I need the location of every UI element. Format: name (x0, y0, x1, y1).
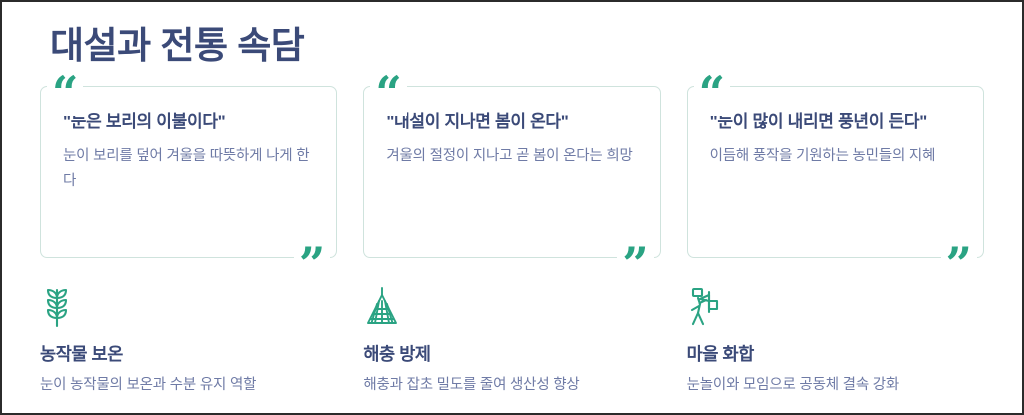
proverb-quote: "눈이 많이 내리면 풍년이 든다" (710, 109, 963, 134)
benefit-title: 마을 화합 (687, 342, 984, 366)
benefit-item: 해충 방제 해충과 잡초 밀도를 줄여 생산성 향상 (363, 286, 660, 396)
pest-net-icon (363, 286, 660, 330)
benefit-row: 농작물 보온 눈이 농작물의 보온과 수분 유지 역할 (32, 286, 992, 396)
proverb-card: “ "눈이 많이 내리면 풍년이 든다" 이듬해 풍작을 기원하는 농민들의 지… (687, 86, 984, 258)
quote-open-icon: “ (47, 70, 83, 116)
proverb-card-row: “ "눈은 보리의 이불이다" 눈이 보리를 덮어 겨울을 따뜻하게 나게 한다… (32, 86, 992, 258)
benefit-title: 해충 방제 (363, 342, 660, 366)
quote-close-icon: ” (294, 241, 330, 287)
quote-open-icon: “ (694, 70, 730, 116)
quote-close-icon: ” (941, 241, 977, 287)
infographic-page: 대설과 전통 속담 “ "눈은 보리의 이불이다" 눈이 보리를 덮어 겨울을 … (0, 0, 1024, 415)
person-with-flag-icon (687, 286, 984, 330)
benefit-description: 해충과 잡초 밀도를 줄여 생산성 향상 (363, 374, 660, 396)
wheat-icon (40, 286, 337, 330)
proverb-card: “ "대설이 지나면 봄이 온다" 겨울의 절정이 지나고 곧 봄이 온다는 희… (363, 86, 660, 258)
quote-close-icon: ” (617, 241, 653, 287)
content-wrapper: 대설과 전통 속담 “ "눈은 보리의 이불이다" 눈이 보리를 덮어 겨울을 … (2, 2, 1022, 413)
benefit-item: 마을 화합 눈놀이와 모임으로 공동체 결속 강화 (687, 286, 984, 396)
quote-open-icon: “ (370, 70, 406, 116)
proverb-card: “ "눈은 보리의 이불이다" 눈이 보리를 덮어 겨울을 따뜻하게 나게 한다… (40, 86, 337, 258)
proverb-quote: "눈은 보리의 이불이다" (63, 109, 316, 134)
proverb-meaning: 겨울의 절정이 지나고 곧 봄이 온다는 희망 (386, 144, 639, 169)
proverb-meaning: 눈이 보리를 덮어 겨울을 따뜻하게 나게 한다 (63, 144, 316, 194)
benefit-title: 농작물 보온 (40, 342, 337, 366)
benefit-item: 농작물 보온 눈이 농작물의 보온과 수분 유지 역할 (40, 286, 337, 396)
benefit-description: 눈이 농작물의 보온과 수분 유지 역할 (40, 374, 337, 396)
page-title: 대설과 전통 속담 (32, 20, 992, 72)
benefit-description: 눈놀이와 모임으로 공동체 결속 강화 (687, 374, 984, 396)
proverb-meaning: 이듬해 풍작을 기원하는 농민들의 지혜 (710, 144, 963, 169)
proverb-quote: "대설이 지나면 봄이 온다" (386, 109, 639, 134)
